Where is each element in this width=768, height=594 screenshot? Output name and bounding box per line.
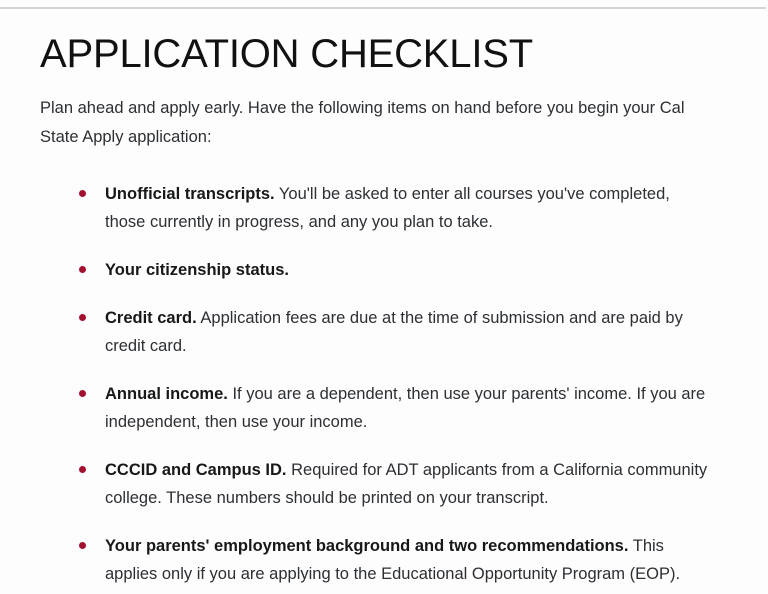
- list-item-term: Your citizenship status.: [105, 261, 289, 279]
- content-container: APPLICATION CHECKLIST Plan ahead and app…: [0, 31, 768, 588]
- list-item: CCCID and Campus ID. Required for ADT ap…: [40, 456, 712, 512]
- list-item-term: Credit card.: [105, 309, 197, 327]
- page-title: APPLICATION CHECKLIST: [40, 31, 728, 77]
- intro-paragraph: Plan ahead and apply early. Have the fol…: [40, 94, 700, 152]
- bullet-dot-icon: [79, 266, 86, 273]
- bullet-dot-icon: [79, 390, 86, 397]
- list-item: Credit card. Application fees are due at…: [40, 304, 712, 360]
- bullet-dot-icon: [79, 542, 86, 549]
- bullet-dot-icon: [79, 190, 86, 197]
- bullet-dot-icon: [79, 314, 86, 321]
- list-item-term: Unofficial transcripts.: [105, 185, 275, 203]
- list-item: Unofficial transcripts. You'll be asked …: [40, 180, 712, 236]
- document-page: APPLICATION CHECKLIST Plan ahead and app…: [0, 9, 768, 588]
- bullet-dot-icon: [79, 466, 86, 473]
- checklist-list: Unofficial transcripts. You'll be asked …: [40, 180, 712, 588]
- list-item-term: CCCID and Campus ID.: [105, 461, 287, 479]
- list-item-term: Your parents' employment background and …: [105, 537, 628, 555]
- list-item-term: Annual income.: [105, 385, 228, 403]
- list-item: Your parents' employment background and …: [40, 532, 712, 588]
- list-item: Annual income. If you are a dependent, t…: [40, 380, 712, 436]
- list-item: Your citizenship status.: [40, 256, 712, 284]
